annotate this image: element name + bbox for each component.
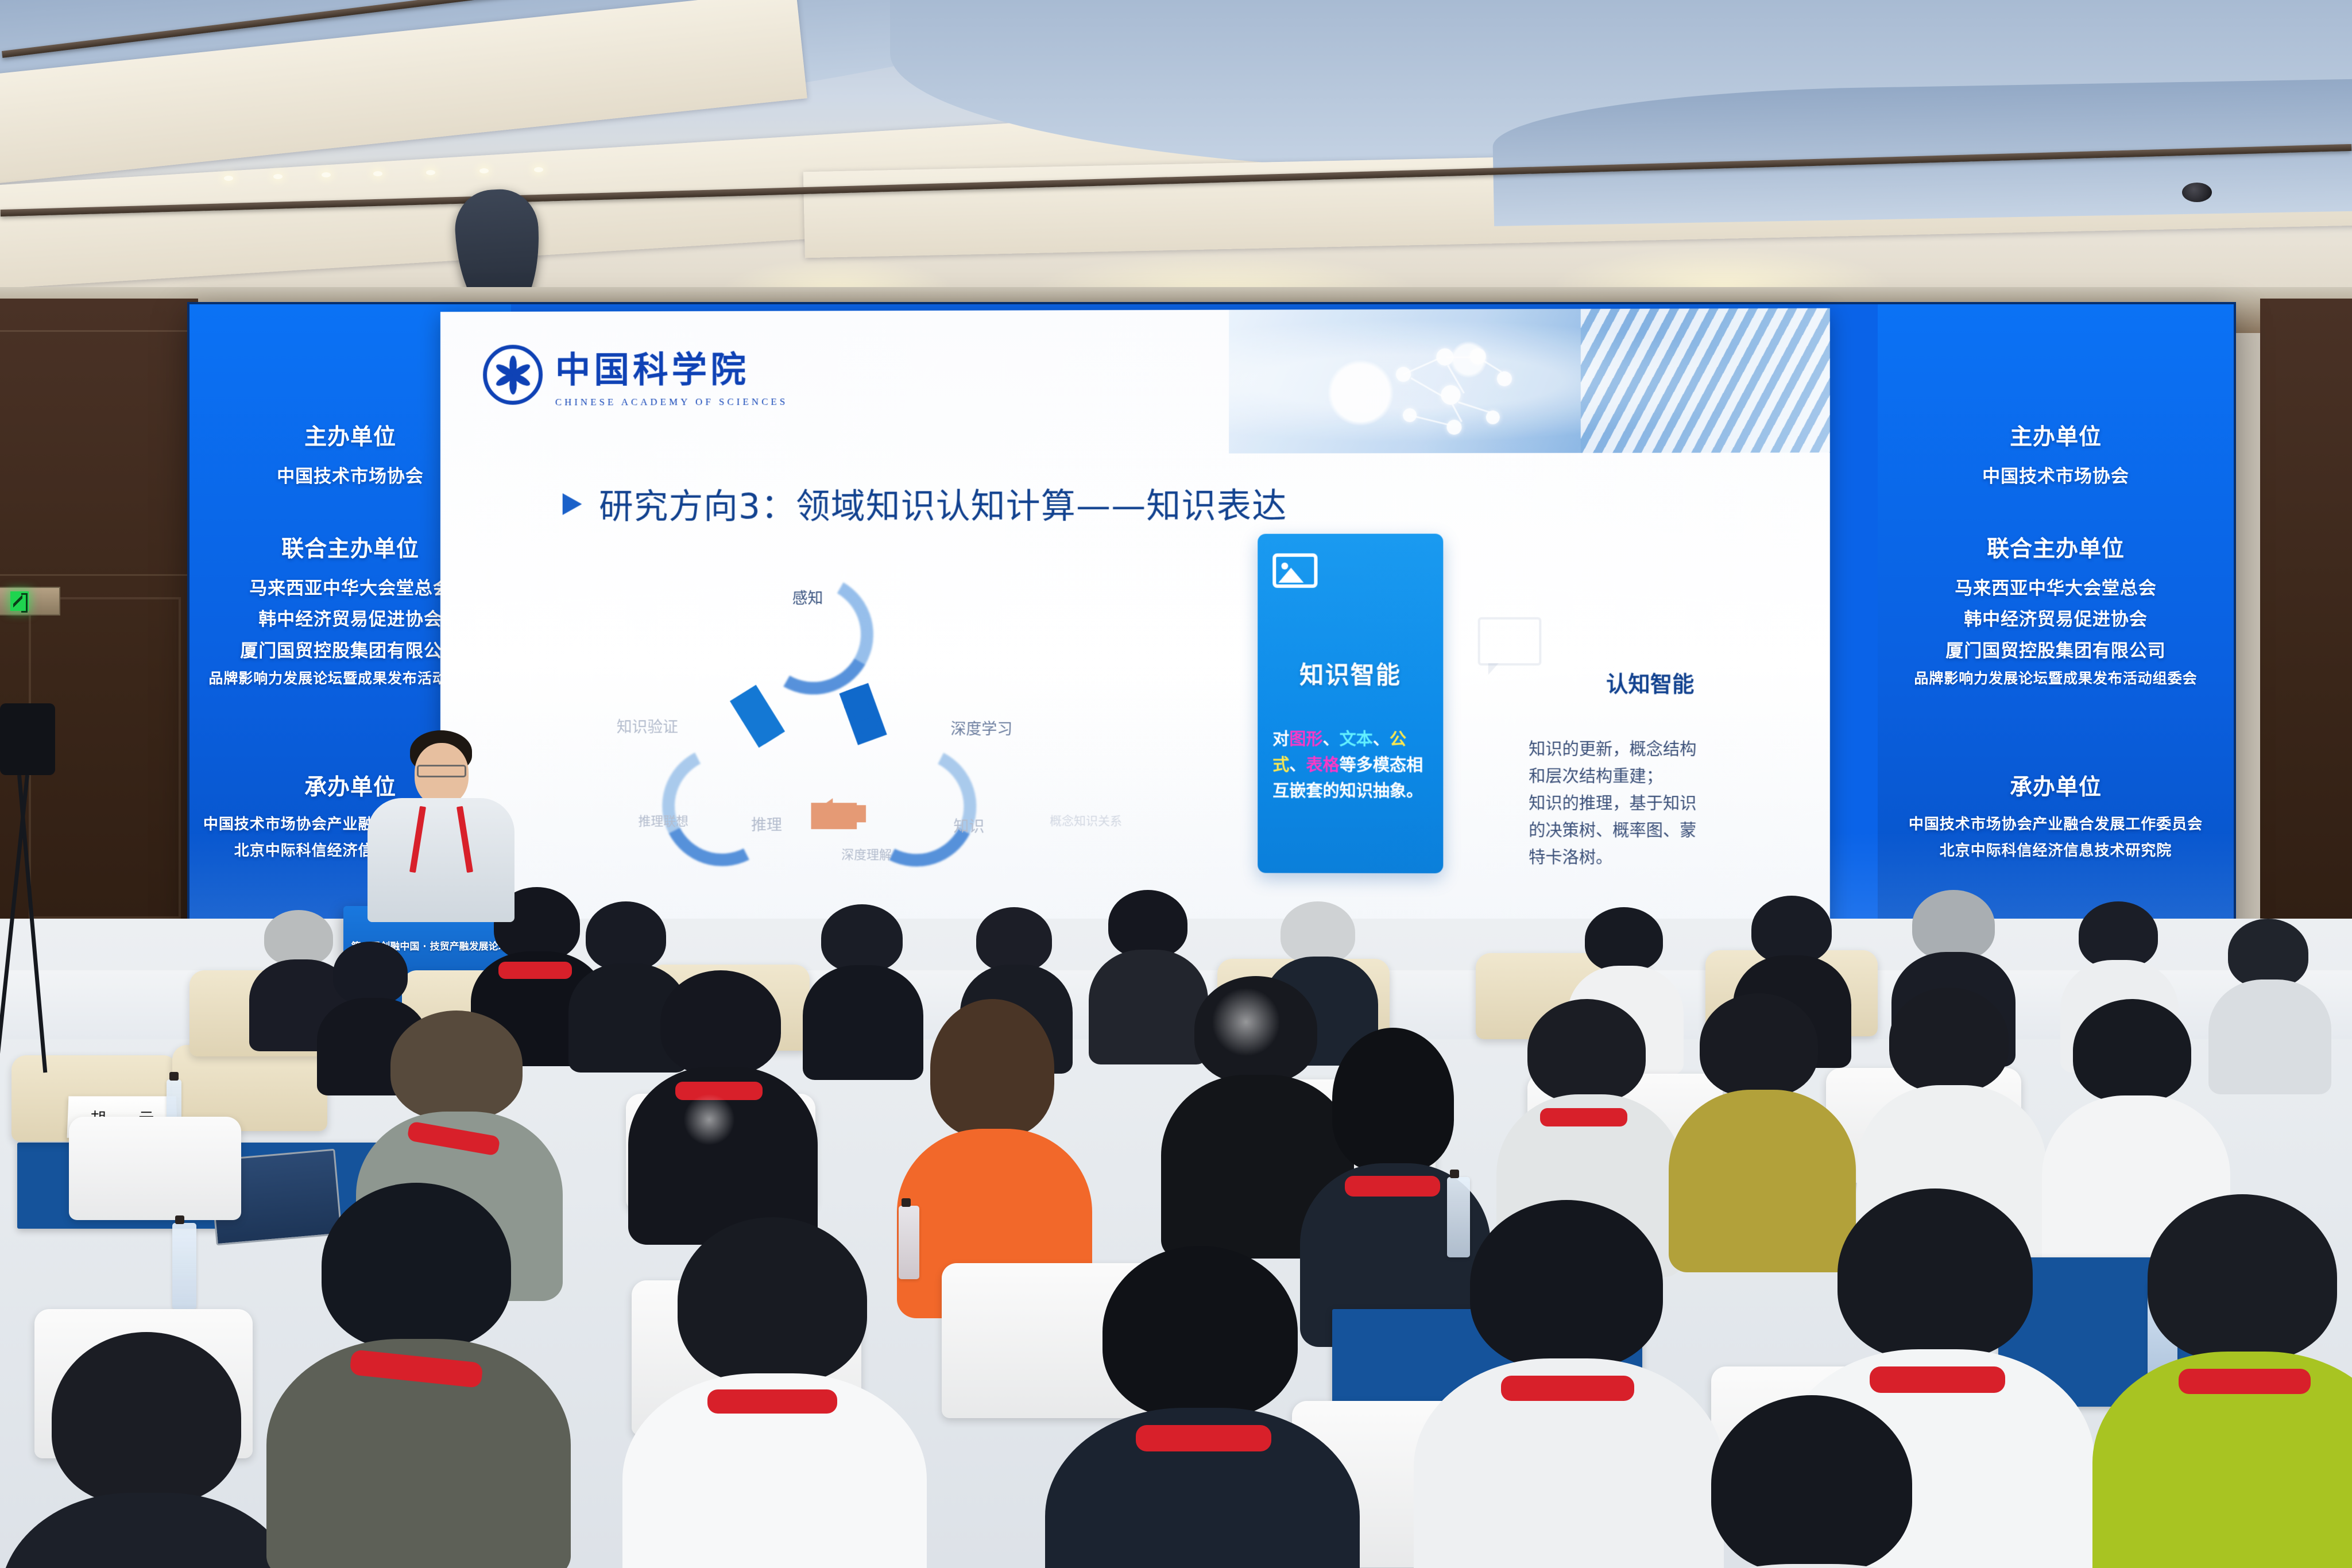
cycle-label-reason-association: 推理联想 xyxy=(639,815,673,830)
cog-line: 和层次结构重建； xyxy=(1529,763,1772,791)
cycle-label-deep-learning: 深度学习 xyxy=(950,717,1012,739)
cycle-label-knowledge-validation: 知识验证 xyxy=(617,714,678,737)
sponsor-header: 主办单位 xyxy=(1878,419,2234,451)
presenter xyxy=(355,730,527,920)
cog-title: 认知智能 xyxy=(1529,666,1772,698)
sponsor-header: 联合主办单位 xyxy=(1878,531,2234,563)
kcard-hl-3: 表格 xyxy=(1306,755,1339,775)
knowledge-cycle-diagram: 感知 深度学习 知识 推理 知识验证 推理联想 深度理解 概念知识关系 xyxy=(611,574,1068,896)
knowledge-intelligence-card: 知识智能 对图形、文本、公式、表格等多模态相互嵌套的知识抽象。 xyxy=(1258,534,1443,874)
kcard-hl-0: 图形 xyxy=(1289,729,1322,749)
cog-body: 知识的更新，概念结构 和层次结构重建； 知识的推理，基于知识 的决策树、概率图、… xyxy=(1529,736,1772,872)
water-bottle xyxy=(1447,1177,1470,1257)
exit-sign xyxy=(0,587,60,615)
slide-title: 研究方向3：领域知识认知计算——知识表达 xyxy=(563,478,1287,529)
ceiling-camera-icon xyxy=(2182,183,2212,202)
cycle-label-concept-relation: 概念知识关系 xyxy=(1050,814,1086,828)
cog-line: 特卡洛树。 xyxy=(1529,844,1772,872)
cas-logo: 中国科学院 CHINESE ACADEMY OF SCIENCES xyxy=(483,340,788,408)
speech-bubble-watermark-icon xyxy=(1478,617,1542,665)
water-bottle xyxy=(899,1206,919,1279)
cas-emblem-icon xyxy=(483,344,543,405)
cycle-label-knowledge: 知识 xyxy=(953,814,984,837)
arrow-down-right-icon xyxy=(839,683,887,745)
kcard-body: 对图形、文本、公式、表格等多模态相互嵌套的知识抽象。 xyxy=(1272,726,1428,804)
chair xyxy=(69,1117,241,1220)
cog-line: 知识的更新，概念结构 xyxy=(1529,736,1772,764)
sponsor-org: 中国技术市场协会 xyxy=(1878,461,2234,492)
wood-wall-right xyxy=(2260,299,2352,988)
sponsor-org: 厦门国贸控股集团有限公司 xyxy=(1878,636,2234,667)
cycle-label-deep-understanding: 深度理解 xyxy=(841,845,892,863)
image-icon xyxy=(1272,553,1317,588)
sponsor-org: 马来西亚中华大会堂总会 xyxy=(1878,573,2234,604)
cas-logo-cn: 中国科学院 xyxy=(555,340,788,393)
arrow-left-icon xyxy=(811,803,857,829)
camera-rig xyxy=(0,703,55,775)
cognitive-intelligence-block: 认知智能 知识的更新，概念结构 和层次结构重建； 知识的推理，基于知识 的决策树… xyxy=(1529,666,1772,872)
water-bottle xyxy=(172,1223,196,1309)
presentation-slide: 中国科学院 CHINESE ACADEMY OF SCIENCES 研究方向3：… xyxy=(440,308,1830,955)
cycle-label-reasoning: 推理 xyxy=(751,812,782,835)
slide-title-text: 研究方向3：领域知识认知计算——知识表达 xyxy=(599,478,1287,529)
exit-running-man-icon xyxy=(10,591,29,611)
kcard-title: 知识智能 xyxy=(1272,656,1428,691)
kcard-hl-1: 文本 xyxy=(1340,729,1373,749)
kcard-prefix: 对 xyxy=(1272,729,1289,749)
cycle-label-perception: 感知 xyxy=(792,586,823,608)
cog-line: 的决策树、概率图、蒙 xyxy=(1529,817,1772,845)
sponsor-header: 承办单位 xyxy=(1878,769,2234,802)
cog-line: 知识的推理，基于知识 xyxy=(1529,790,1772,818)
kcard-tail: 的知识抽象。 xyxy=(1323,781,1423,800)
arrow-up-left-icon xyxy=(730,685,785,748)
triangle-bullet-icon xyxy=(563,493,582,515)
slide-header-science-image xyxy=(1229,308,1830,454)
sponsor-org: 韩中经济贸易促进协会 xyxy=(1878,604,2234,635)
sponsor-org: 品牌影响力发展论坛暨成果发布活动组委会 xyxy=(1878,667,2234,692)
ceiling xyxy=(0,0,2352,322)
conference-hall-photo: 主办单位 中国技术市场协会 联合主办单位 马来西亚中华大会堂总会 韩中经济贸易促… xyxy=(0,0,2352,1568)
cas-logo-en: CHINESE ACADEMY OF SCIENCES xyxy=(555,396,788,408)
